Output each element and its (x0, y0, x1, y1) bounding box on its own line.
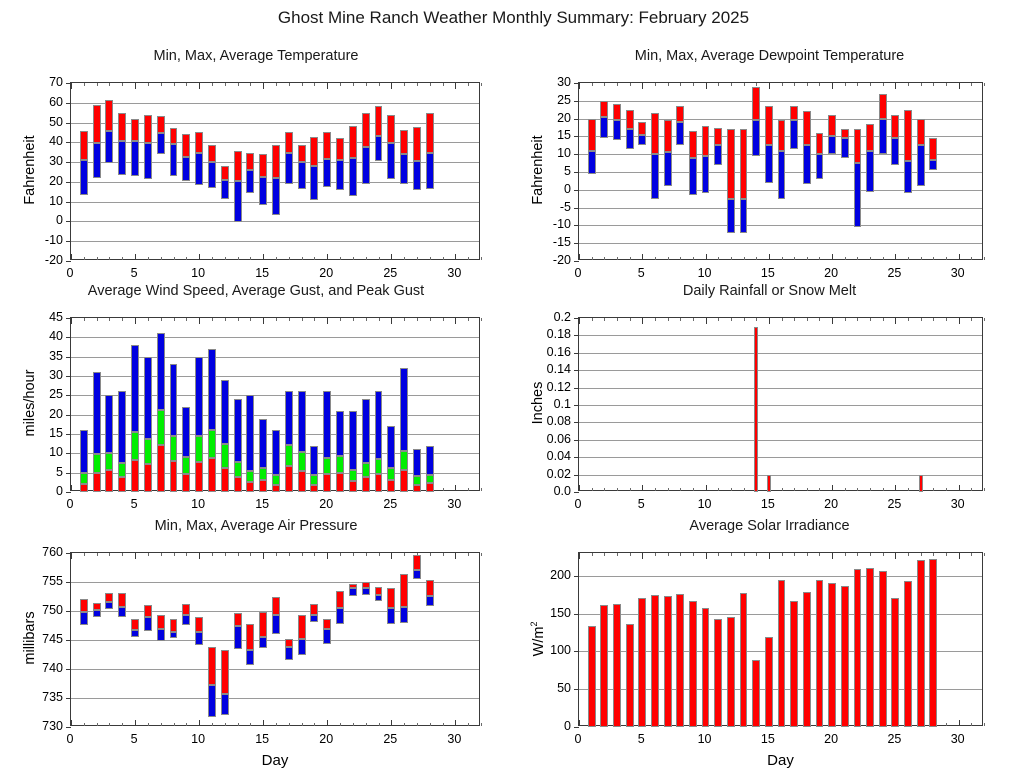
y-tick-label: 0 (3, 484, 63, 498)
x-tick-mark-minor (238, 723, 239, 726)
x-tick-mark-minor (417, 723, 418, 726)
solar-bar (588, 626, 596, 727)
wind-avg-gust-bar (336, 456, 344, 473)
wind-avg-speed-bar (144, 464, 152, 492)
x-tick-mark-top-minor (744, 83, 745, 86)
x-tick-mark-top-minor (630, 318, 631, 321)
x-tick-mark-top (832, 83, 833, 89)
panel-dewpoint: Min, Max, Average Dewpoint Temperature-2… (512, 48, 1027, 283)
x-tick-mark-minor (971, 488, 972, 491)
temperature-min-bar (208, 162, 216, 188)
x-tick-mark (263, 254, 264, 260)
x-tick-label: 25 (887, 497, 901, 511)
x-tick-mark-top-minor (870, 318, 871, 321)
pressure-min-bar (362, 588, 370, 595)
x-tick-mark-minor (857, 257, 858, 260)
temperature-min-bar (336, 160, 344, 190)
wind-peak-gust-bar (310, 446, 318, 475)
wind-avg-speed-bar (80, 484, 88, 492)
temperature-max-bar (298, 145, 306, 162)
x-tick-mark (706, 254, 707, 260)
dewpoint-min-bar (600, 117, 608, 138)
x-tick-label: 15 (255, 732, 269, 746)
x-tick-label: 25 (887, 266, 901, 280)
wind-peak-gust-bar (105, 395, 113, 452)
y-tick-label: -20 (511, 253, 571, 267)
temperature-max-bar (362, 113, 370, 148)
x-tick-mark-minor (468, 723, 469, 726)
x-tick-mark-top-minor (314, 318, 315, 321)
temperature-min-bar (375, 136, 383, 161)
pressure-max-bar (170, 619, 178, 632)
gridline (579, 208, 982, 209)
wind-peak-gust-bar (387, 426, 395, 467)
dewpoint-max-bar (588, 119, 596, 151)
x-tick-label: 5 (131, 497, 138, 511)
x-tick-mark-top-minor (971, 318, 972, 321)
x-tick-mark-minor (84, 723, 85, 726)
plot-area-pressure (70, 552, 480, 726)
dewpoint-min-bar (740, 199, 748, 233)
wind-peak-gust-bar (208, 349, 216, 430)
pressure-max-bar (400, 574, 408, 607)
x-tick-mark-top-minor (238, 553, 239, 556)
dewpoint-max-bar (740, 129, 748, 198)
wind-avg-speed-bar (387, 480, 395, 492)
x-tick-label: 10 (698, 266, 712, 280)
x-tick-label: 5 (638, 266, 645, 280)
x-tick-mark-top (391, 318, 392, 324)
x-tick-mark-minor (379, 257, 380, 260)
temperature-min-bar (157, 133, 165, 154)
x-tick-mark-top (642, 553, 643, 559)
x-tick-mark-minor (161, 723, 162, 726)
wind-avg-gust-bar (118, 463, 126, 477)
wind-avg-speed-bar (93, 473, 101, 492)
x-tick-mark-top-minor (782, 318, 783, 321)
y-tick-mark (574, 225, 579, 226)
pressure-min-bar (400, 607, 408, 623)
x-tick-mark-top (263, 553, 264, 559)
x-tick-label: 20 (824, 497, 838, 511)
gridline (71, 241, 479, 242)
wind-peak-gust-bar (234, 399, 242, 462)
pressure-min-bar (234, 626, 242, 649)
wind-avg-gust-bar (131, 432, 139, 459)
x-tick-mark-top-minor (604, 553, 605, 556)
x-tick-mark-minor (592, 257, 593, 260)
temperature-max-bar (144, 115, 152, 144)
x-tick-mark-top-minor (794, 318, 795, 321)
temperature-max-bar (234, 151, 242, 181)
x-tick-mark (455, 485, 456, 491)
gridline (579, 101, 982, 102)
plot-area-wind (70, 317, 480, 491)
x-tick-mark-minor (314, 723, 315, 726)
wind-peak-gust-bar (246, 395, 254, 470)
y-tick-mark (574, 576, 579, 577)
dewpoint-min-bar (778, 151, 786, 199)
x-tick-mark-top-minor (443, 83, 444, 86)
page-title: Ghost Mine Ranch Weather Monthly Summary… (0, 8, 1027, 28)
wind-avg-gust-bar (400, 451, 408, 470)
x-tick-mark-top-minor (366, 553, 367, 556)
x-tick-mark-minor (744, 488, 745, 491)
x-tick-mark-top-minor (186, 553, 187, 556)
x-axis-label-pressure: Day (70, 752, 480, 769)
wind-avg-gust-bar (93, 454, 101, 472)
x-tick-mark (199, 254, 200, 260)
x-tick-mark-top-minor (250, 318, 251, 321)
dewpoint-max-bar (613, 104, 621, 120)
x-tick-mark-top-minor (161, 83, 162, 86)
x-tick-mark-top-minor (680, 83, 681, 86)
x-tick-mark (455, 254, 456, 260)
y-tick-mark (574, 243, 579, 244)
pressure-max-bar (272, 597, 280, 615)
x-tick-label: 5 (638, 732, 645, 746)
x-tick-mark-top (327, 83, 328, 89)
x-tick-mark-top-minor (819, 83, 820, 86)
wind-avg-speed-bar (118, 477, 126, 492)
y-tick-mark (574, 370, 579, 371)
wind-avg-speed-bar (246, 482, 254, 492)
y-tick-label: 0 (511, 719, 571, 733)
wind-avg-gust-bar (298, 452, 306, 471)
x-tick-mark-top-minor (186, 83, 187, 86)
wind-peak-gust-bar (131, 345, 139, 432)
y-tick-mark (574, 405, 579, 406)
x-tick-mark-top-minor (592, 553, 593, 556)
x-tick-mark-minor (366, 257, 367, 260)
x-tick-mark-minor (883, 257, 884, 260)
x-tick-label: 30 (447, 266, 461, 280)
wind-avg-speed-bar (182, 474, 190, 492)
wind-avg-speed-bar (272, 485, 280, 492)
y-tick-mark (574, 689, 579, 690)
y-tick-label: 0.2 (511, 310, 571, 324)
x-tick-mark-minor (693, 488, 694, 491)
wind-avg-speed-bar (195, 462, 203, 492)
wind-peak-gust-bar (118, 391, 126, 463)
wind-peak-gust-bar (272, 430, 280, 474)
x-tick-mark (71, 254, 72, 260)
pressure-min-bar (426, 596, 434, 606)
y-tick-mark (66, 669, 71, 670)
y-tick-label: -20 (3, 253, 63, 267)
x-tick-mark-top (71, 83, 72, 89)
x-tick-mark-minor (604, 488, 605, 491)
x-tick-mark-top (769, 83, 770, 89)
x-tick-mark-top (706, 553, 707, 559)
x-tick-label: 0 (67, 497, 74, 511)
y-tick-mark (574, 261, 579, 262)
temperature-max-bar (400, 130, 408, 154)
solar-bar (676, 594, 684, 727)
x-tick-mark-minor (417, 257, 418, 260)
x-tick-mark-top-minor (617, 553, 618, 556)
x-tick-mark-top (455, 553, 456, 559)
x-tick-mark (832, 254, 833, 260)
x-tick-mark-minor (109, 257, 110, 260)
x-tick-mark-top (135, 553, 136, 559)
y-tick-mark (66, 221, 71, 222)
pressure-min-bar (131, 630, 139, 636)
x-tick-mark-top-minor (680, 318, 681, 321)
wind-peak-gust-bar (349, 411, 357, 470)
x-tick-mark-top-minor (289, 83, 290, 86)
x-tick-mark (769, 254, 770, 260)
x-tick-mark-top-minor (340, 553, 341, 556)
wind-avg-gust-bar (310, 475, 318, 485)
x-tick-mark-top-minor (693, 83, 694, 86)
wind-peak-gust-bar (400, 368, 408, 451)
x-tick-mark-top-minor (744, 553, 745, 556)
x-tick-mark-top-minor (481, 318, 482, 321)
y-axis-label-wind: miles/hour (22, 338, 38, 468)
dewpoint-max-bar (891, 115, 899, 138)
x-tick-mark (642, 485, 643, 491)
x-tick-mark-top-minor (481, 83, 482, 86)
pressure-max-bar (413, 555, 421, 570)
x-tick-mark-top-minor (819, 553, 820, 556)
x-tick-label: 5 (131, 266, 138, 280)
x-tick-mark-top (199, 318, 200, 324)
temperature-max-bar (375, 106, 383, 137)
x-tick-mark-minor (340, 257, 341, 260)
x-tick-mark-top-minor (693, 318, 694, 321)
dewpoint-min-bar (917, 145, 925, 186)
x-tick-mark-top-minor (718, 318, 719, 321)
temperature-min-bar (80, 160, 88, 195)
y-tick-mark (66, 162, 71, 163)
panel-temperature: Min, Max, Average Temperature-20-1001020… (0, 48, 512, 283)
wind-avg-gust-bar (208, 430, 216, 458)
pressure-max-bar (208, 647, 216, 685)
pressure-max-bar (323, 619, 331, 629)
x-tick-mark-top-minor (984, 553, 985, 556)
y-tick-mark (574, 422, 579, 423)
temperature-max-bar (170, 128, 178, 145)
dewpoint-min-bar (638, 135, 646, 146)
x-tick-mark-top-minor (340, 318, 341, 321)
pressure-max-bar (310, 604, 318, 615)
x-tick-mark (959, 254, 960, 260)
x-tick-mark-top (71, 318, 72, 324)
x-tick-mark-minor (655, 488, 656, 491)
dewpoint-max-bar (816, 133, 824, 154)
x-tick-mark-top-minor (668, 318, 669, 321)
x-tick-mark-minor (148, 723, 149, 726)
wind-avg-speed-bar (105, 470, 113, 492)
x-tick-mark-top-minor (883, 83, 884, 86)
temperature-min-bar (323, 159, 331, 187)
x-tick-mark-top-minor (870, 83, 871, 86)
temperature-max-bar (208, 145, 216, 162)
pressure-max-bar (387, 588, 395, 608)
dewpoint-min-bar (816, 154, 824, 179)
gridline (579, 422, 982, 423)
y-tick-mark (66, 727, 71, 728)
x-tick-mark-top-minor (174, 318, 175, 321)
panel-pressure: Min, Max, Average Air Pressure7307357407… (0, 518, 512, 753)
pressure-max-bar (93, 603, 101, 610)
pressure-max-bar (144, 605, 152, 618)
solar-bar (600, 605, 608, 727)
solar-bar (790, 601, 798, 727)
solar-bar (904, 581, 912, 727)
wind-avg-gust-bar (195, 436, 203, 462)
x-tick-mark-minor (174, 257, 175, 260)
x-tick-mark-top-minor (857, 553, 858, 556)
y-tick-mark (66, 337, 71, 338)
solar-bar (778, 580, 786, 727)
x-tick-mark-top-minor (908, 318, 909, 321)
gridline (579, 243, 982, 244)
wind-avg-speed-bar (221, 468, 229, 492)
solar-bar (651, 595, 659, 727)
x-tick-mark-top-minor (212, 553, 213, 556)
y-tick-mark (66, 415, 71, 416)
x-tick-mark-top (579, 83, 580, 89)
pressure-max-bar (336, 591, 344, 608)
solar-bar (841, 586, 849, 727)
wind-avg-gust-bar (362, 463, 370, 477)
x-tick-mark-minor (845, 488, 846, 491)
x-tick-mark-minor (933, 488, 934, 491)
x-tick-mark-top-minor (122, 83, 123, 86)
solar-bar (891, 598, 899, 727)
x-tick-mark-minor (353, 257, 354, 260)
x-tick-mark-top (769, 553, 770, 559)
x-tick-mark-top-minor (680, 553, 681, 556)
y-tick-mark (574, 335, 579, 336)
solar-bar (816, 580, 824, 727)
temperature-max-bar (426, 113, 434, 154)
temperature-min-bar (144, 143, 152, 179)
solar-bar (702, 608, 710, 727)
x-tick-mark-top (769, 318, 770, 324)
wind-avg-gust-bar (259, 468, 267, 480)
x-tick-mark-top-minor (379, 83, 380, 86)
x-tick-mark-top-minor (314, 553, 315, 556)
x-tick-mark-minor (225, 257, 226, 260)
y-tick-mark (574, 208, 579, 209)
rainfall-bar (754, 327, 758, 492)
x-tick-mark-minor (782, 257, 783, 260)
x-tick-mark-top-minor (97, 83, 98, 86)
temperature-max-bar (131, 119, 139, 142)
temperature-max-bar (349, 126, 357, 159)
pressure-min-bar (182, 615, 190, 625)
temperature-min-bar (234, 181, 242, 223)
x-tick-mark (642, 254, 643, 260)
dewpoint-max-bar (702, 126, 710, 156)
temperature-min-bar (131, 141, 139, 176)
x-tick-mark-minor (870, 257, 871, 260)
x-tick-label: 10 (698, 732, 712, 746)
x-tick-label: 0 (575, 266, 582, 280)
dewpoint-max-bar (727, 129, 735, 198)
solar-bar (727, 617, 735, 727)
x-tick-label: 30 (951, 266, 965, 280)
dewpoint-max-bar (929, 138, 937, 159)
temperature-max-bar (246, 153, 254, 170)
x-tick-mark-top-minor (417, 318, 418, 321)
x-tick-mark-top-minor (933, 553, 934, 556)
x-tick-mark-top-minor (353, 83, 354, 86)
x-tick-mark-top (706, 318, 707, 324)
x-tick-label: 20 (824, 266, 838, 280)
x-tick-mark-top (327, 553, 328, 559)
x-tick-mark-top-minor (212, 83, 213, 86)
x-tick-mark-top-minor (430, 83, 431, 86)
x-tick-label: 10 (191, 497, 205, 511)
temperature-min-bar (298, 162, 306, 189)
x-tick-mark-top-minor (946, 553, 947, 556)
x-tick-mark-minor (933, 257, 934, 260)
x-tick-mark-top-minor (97, 318, 98, 321)
solar-bar (689, 601, 697, 727)
x-tick-mark-minor (731, 488, 732, 491)
x-tick-mark-top-minor (250, 553, 251, 556)
wind-peak-gust-bar (80, 430, 88, 473)
wind-avg-gust-bar (234, 462, 242, 477)
dewpoint-max-bar (714, 128, 722, 146)
x-tick-mark-minor (122, 257, 123, 260)
gridline (71, 103, 479, 104)
x-tick-mark-minor (870, 488, 871, 491)
wind-avg-speed-bar (208, 458, 216, 492)
x-tick-mark-top-minor (468, 553, 469, 556)
x-tick-mark-top-minor (946, 83, 947, 86)
wind-avg-speed-bar (285, 466, 293, 492)
y-tick-mark (66, 453, 71, 454)
x-tick-mark-minor (289, 723, 290, 726)
x-tick-mark-top-minor (379, 553, 380, 556)
y-tick-mark (574, 154, 579, 155)
y-tick-mark (574, 475, 579, 476)
x-tick-mark-top-minor (186, 318, 187, 321)
solar-bar (765, 637, 773, 727)
x-tick-mark-top-minor (668, 553, 669, 556)
x-tick-mark-top-minor (225, 553, 226, 556)
dewpoint-min-bar (854, 163, 862, 227)
x-tick-mark-top-minor (592, 318, 593, 321)
y-tick-mark (66, 698, 71, 699)
x-tick-mark-minor (718, 488, 719, 491)
pressure-min-bar (221, 694, 229, 715)
temperature-max-bar (413, 127, 421, 162)
x-tick-label: 15 (761, 732, 775, 746)
pressure-min-bar (285, 647, 293, 660)
pressure-max-bar (246, 624, 254, 650)
temperature-max-bar (157, 116, 165, 134)
pressure-max-bar (105, 593, 113, 602)
solar-bar (854, 569, 862, 727)
pressure-min-bar (208, 685, 216, 716)
x-tick-mark-top-minor (933, 318, 934, 321)
x-tick-mark-top (327, 318, 328, 324)
dewpoint-max-bar (904, 110, 912, 162)
x-tick-mark-minor (655, 257, 656, 260)
x-tick-label: 30 (951, 497, 965, 511)
x-tick-label: 0 (67, 266, 74, 280)
x-tick-mark (832, 485, 833, 491)
y-axis-label-temperature: Fahrenheit (22, 105, 38, 235)
y-tick-mark (66, 434, 71, 435)
x-tick-label: 5 (131, 732, 138, 746)
